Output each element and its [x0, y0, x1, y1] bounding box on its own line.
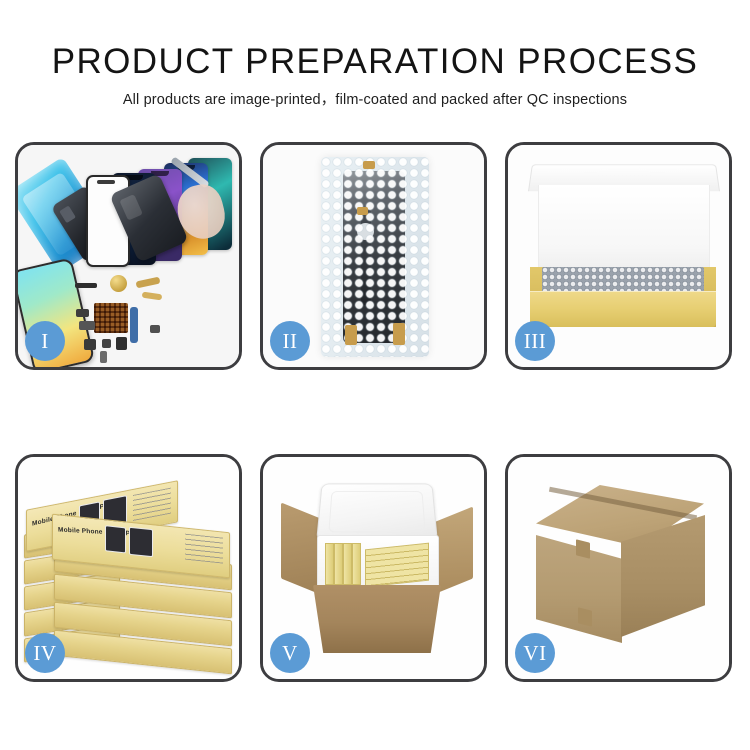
speaker-module-icon — [110, 275, 127, 292]
yellow-box-4 — [352, 543, 361, 585]
tape-tab-4 — [393, 323, 405, 345]
step-badge-6: VI — [515, 633, 555, 673]
step-badge-5: V — [270, 633, 310, 673]
small-component-1 — [76, 309, 89, 317]
page-subtitle: All products are image-printed，film-coat… — [0, 82, 750, 109]
flex-cable-part-3 — [130, 307, 138, 343]
step-badge-1: I — [25, 321, 65, 361]
yellow-box-3 — [343, 543, 352, 585]
box-front-kraft — [530, 291, 716, 327]
foam-cooler-lid — [316, 484, 438, 542]
box-interior-white — [538, 185, 710, 275]
chip-part-5 — [100, 351, 107, 363]
lid-window-graphic-3 — [105, 525, 126, 553]
step-badge-3: III — [515, 321, 555, 361]
process-step-panel-4: Mobile Phone Spare Parts Mobile Phone Sp… — [15, 454, 242, 682]
chip-part-2 — [102, 339, 111, 348]
tape-tab-1 — [363, 161, 375, 169]
step-badge-4: IV — [25, 633, 65, 673]
yellow-boxes-in-cooler — [325, 543, 429, 585]
bubble-wrap-texture — [321, 157, 429, 357]
process-step-panel-6: VI — [505, 454, 732, 682]
carton-tape-patch-2 — [578, 607, 592, 626]
step-badge-2: II — [270, 321, 310, 361]
yellow-box-1 — [325, 543, 334, 585]
carton-tape-patch-1 — [576, 539, 590, 558]
tape-tab-2 — [357, 207, 368, 215]
spare-parts-cluster — [78, 273, 218, 367]
process-step-panel-5: V — [260, 454, 487, 682]
lid-spec-text-lines — [133, 488, 171, 521]
process-step-panel-3: III — [505, 142, 732, 370]
process-step-panel-2: II — [260, 142, 487, 370]
flex-cable-part-2 — [142, 292, 163, 301]
chip-part-1 — [84, 339, 96, 350]
chip-part-4 — [79, 321, 95, 330]
earpiece-mesh-part — [75, 283, 97, 288]
process-step-panel-1: I — [15, 142, 242, 370]
chip-part-3 — [116, 337, 127, 350]
lid-spec-text-lines-2 — [185, 534, 223, 564]
product-preparation-infographic: PRODUCT PREPARATION PROCESS All products… — [0, 0, 750, 750]
process-steps-grid: I II — [15, 142, 735, 682]
header: PRODUCT PREPARATION PROCESS All products… — [0, 0, 750, 109]
shipping-carton-body — [313, 585, 441, 653]
yellow-box-row-stacked — [365, 543, 429, 588]
lid-window-graphic-4 — [129, 527, 153, 558]
flex-cable-part-1 — [136, 277, 161, 289]
page-title: PRODUCT PREPARATION PROCESS — [0, 0, 750, 82]
yellow-box-2 — [334, 543, 343, 585]
logic-board-part — [94, 303, 128, 333]
bubble-wrap-bag — [321, 157, 429, 357]
small-component-2 — [150, 325, 160, 333]
tape-tab-3 — [345, 325, 357, 345]
